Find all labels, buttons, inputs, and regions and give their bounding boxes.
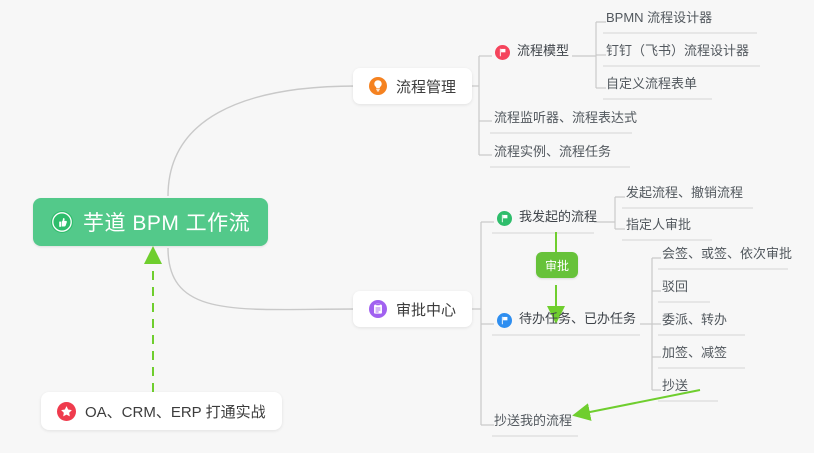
leaf-assignee-approval[interactable]: 指定人审批 [620, 216, 697, 238]
flag-blue-icon [497, 313, 512, 328]
leaf-carbon-copy[interactable]: 抄送 [656, 377, 694, 399]
node-todo-done-tasks[interactable]: 待办任务、已办任务 [491, 308, 642, 332]
leaf-cc-my-process[interactable]: 抄送我的流程 [488, 412, 578, 434]
node-my-started-process-label: 我发起的流程 [519, 208, 597, 226]
mindmap-canvas: 芋道 BPM 工作流 OA、CRM、ERP 打通实战 流程管理 [0, 0, 814, 453]
root-node[interactable]: 芋道 BPM 工作流 [33, 198, 268, 246]
leaf-custom-process-form[interactable]: 自定义流程表单 [600, 75, 703, 97]
edge-root-to-approval-center [168, 248, 356, 310]
branch-process-management-label: 流程管理 [396, 76, 456, 97]
approve-pill: 审批 [536, 252, 578, 278]
bottom-card-label: OA、CRM、ERP 打通实战 [85, 401, 266, 422]
node-process-model[interactable]: 流程模型 [489, 40, 575, 64]
flag-green-icon [497, 211, 512, 226]
leaf-instance-task[interactable]: 流程实例、流程任务 [488, 143, 617, 165]
lightbulb-icon [369, 77, 387, 95]
node-my-started-process[interactable]: 我发起的流程 [491, 206, 603, 230]
leaf-dingtalk-feishu-designer[interactable]: 钉钉（飞书）流程设计器 [600, 42, 755, 64]
branch-approval-center-label: 审批中心 [396, 299, 456, 320]
node-todo-done-tasks-label: 待办任务、已办任务 [519, 310, 636, 328]
node-process-model-label: 流程模型 [517, 42, 569, 60]
leaf-listener-expression[interactable]: 流程监听器、流程表达式 [488, 109, 643, 131]
bottom-card-oa-crm-erp[interactable]: OA、CRM、ERP 打通实战 [41, 392, 282, 430]
leaf-reject[interactable]: 驳回 [656, 278, 694, 300]
star-icon [57, 402, 76, 421]
thumbs-up-icon [51, 211, 73, 233]
clipboard-icon [369, 300, 387, 318]
leaf-delegate-transfer[interactable]: 委派、转办 [656, 311, 733, 333]
flag-red-icon [495, 45, 510, 60]
leaf-countersign-types[interactable]: 会签、或签、依次审批 [656, 245, 798, 267]
edge-root-to-process-management [168, 86, 356, 196]
leaf-add-remove-sign[interactable]: 加签、减签 [656, 344, 733, 366]
root-label: 芋道 BPM 工作流 [83, 207, 250, 237]
branch-process-management[interactable]: 流程管理 [353, 68, 472, 104]
leaf-start-cancel-process[interactable]: 发起流程、撤销流程 [620, 184, 749, 206]
branch-approval-center[interactable]: 审批中心 [353, 291, 472, 327]
leaf-bpmn-designer[interactable]: BPMN 流程设计器 [600, 9, 718, 31]
